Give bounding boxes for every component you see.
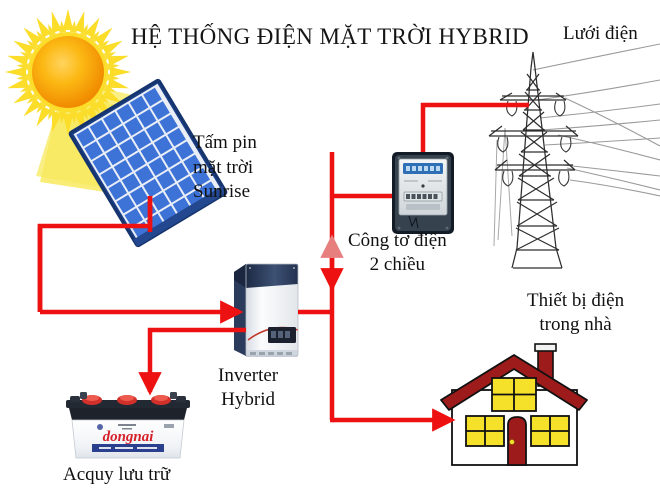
transmission-tower-icon: [489, 44, 660, 268]
wire-meter-to-grid: [423, 105, 529, 152]
inverter-label-line1: Inverter: [218, 364, 278, 388]
solar-panel-label: Tấm pin mặt trời Sunrise: [193, 131, 257, 205]
battery-label-line1: Acquy lưu trữ: [63, 464, 170, 485]
grid-label: Lưới điện: [563, 23, 638, 44]
electric-meter-label: Công tơ điện 2 chiều: [348, 229, 447, 277]
house-label-line1: Thiết bị điện: [527, 289, 624, 313]
battery-brand-label: dongnai: [103, 429, 155, 445]
electric-meter-label-line1: Công tơ điện: [348, 229, 447, 253]
solar-panel-label-line2: mặt trời: [193, 156, 257, 181]
grid-label-line1: Lưới điện: [563, 23, 638, 44]
inverter-label: Inverter Hybrid: [218, 364, 278, 412]
battery-icon: dongnai: [66, 392, 190, 458]
house-label: Thiết bị điện trong nhà: [527, 289, 624, 337]
diagram-canvas: dongnai: [0, 0, 660, 495]
house-icon: [441, 344, 587, 465]
solar-panel-label-line3: Sunrise: [193, 180, 257, 205]
diagram-graphics: dongnai: [0, 0, 660, 495]
battery-label: Acquy lưu trữ: [63, 464, 170, 485]
house-label-line2: trong nhà: [527, 313, 624, 337]
page-title: HỆ THỐNG ĐIỆN MẶT TRỜI HYBRID: [0, 24, 660, 50]
electric-meter-label-line2: 2 chiều: [348, 253, 447, 277]
solar-panel-label-line1: Tấm pin: [193, 131, 257, 156]
inverter-label-line2: Hybrid: [218, 388, 278, 412]
inverter-icon: [234, 264, 298, 357]
electric-meter-icon: [392, 152, 454, 234]
